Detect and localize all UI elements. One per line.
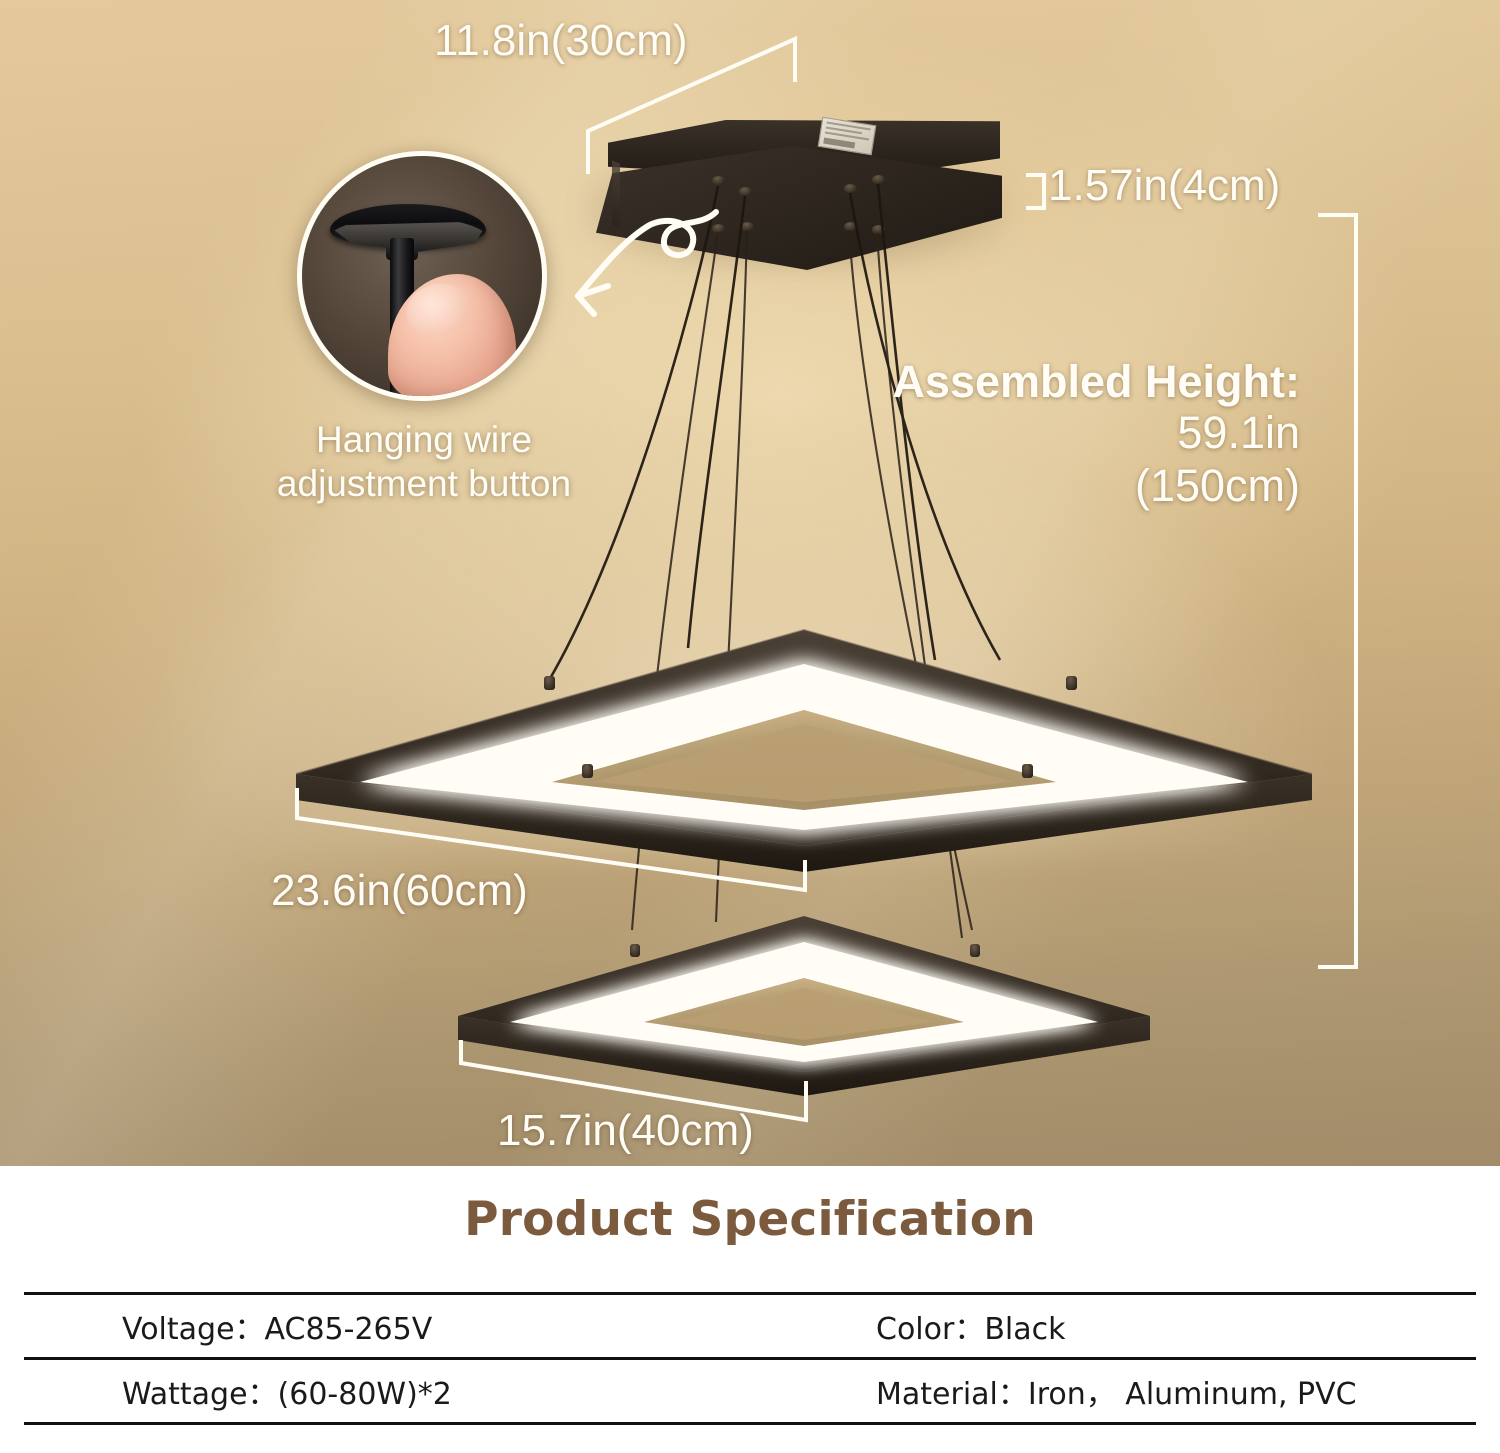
assembled-height-value: 59.1in [870,406,1300,459]
callout-caption: Hanging wire adjustment button [256,418,592,505]
label-large-ring-width: 23.6in(60cm) [271,866,528,916]
callout-caption-line2: adjustment button [256,462,592,506]
table-row: Voltage：AC85-265V Color：Black [24,1294,1476,1359]
spec-table: Voltage：AC85-265V Color：Black Wattage：(6… [24,1292,1476,1425]
label-canopy-thickness: 1.57in(4cm) [1048,161,1280,211]
spec-key-material: Material： [876,1377,1028,1412]
spec-value-voltage: AC85-265V [265,1312,433,1347]
product-specification-panel: Product Specification Voltage：AC85-265V … [0,1166,1500,1453]
adjustment-button-callout [297,151,547,401]
label-small-ring-width: 15.7in(40cm) [497,1106,754,1156]
product-infographic: 11.8in(30cm) 1.57in(4cm) 23.6in(60cm) 15… [0,0,1500,1453]
assembled-height-block: Assembled Height: 59.1in (150cm) [870,358,1300,512]
bracket-canopy-thickness [1028,175,1044,208]
callout-caption-line1: Hanging wire [256,418,592,462]
callout-arrow-path [578,212,716,296]
product-photo: 11.8in(30cm) 1.57in(4cm) 23.6in(60cm) 15… [0,0,1500,1166]
bracket-assembled-height [1320,215,1356,967]
spec-title: Product Specification [0,1192,1500,1247]
spec-value-wattage: (60-80W)*2 [278,1377,452,1412]
spec-value-material: Iron， Aluminum, PVC [1028,1377,1357,1412]
label-canopy-width: 11.8in(30cm) [434,16,688,66]
assembled-height-metric: (150cm) [870,459,1300,512]
spec-value-color: Black [984,1312,1065,1347]
spec-cell-color: Color：Black [854,1294,1476,1359]
spec-cell-voltage: Voltage：AC85-265V [24,1294,854,1359]
spec-cell-material: Material：Iron， Aluminum, PVC [854,1359,1476,1424]
spec-key-voltage: Voltage： [122,1312,265,1347]
spec-cell-wattage: Wattage：(60-80W)*2 [24,1359,854,1424]
spec-key-color: Color： [876,1312,984,1347]
spec-key-wattage: Wattage： [122,1377,278,1412]
table-row: Wattage：(60-80W)*2 Material：Iron， Alumin… [24,1359,1476,1424]
assembled-height-title: Assembled Height: [870,358,1300,406]
